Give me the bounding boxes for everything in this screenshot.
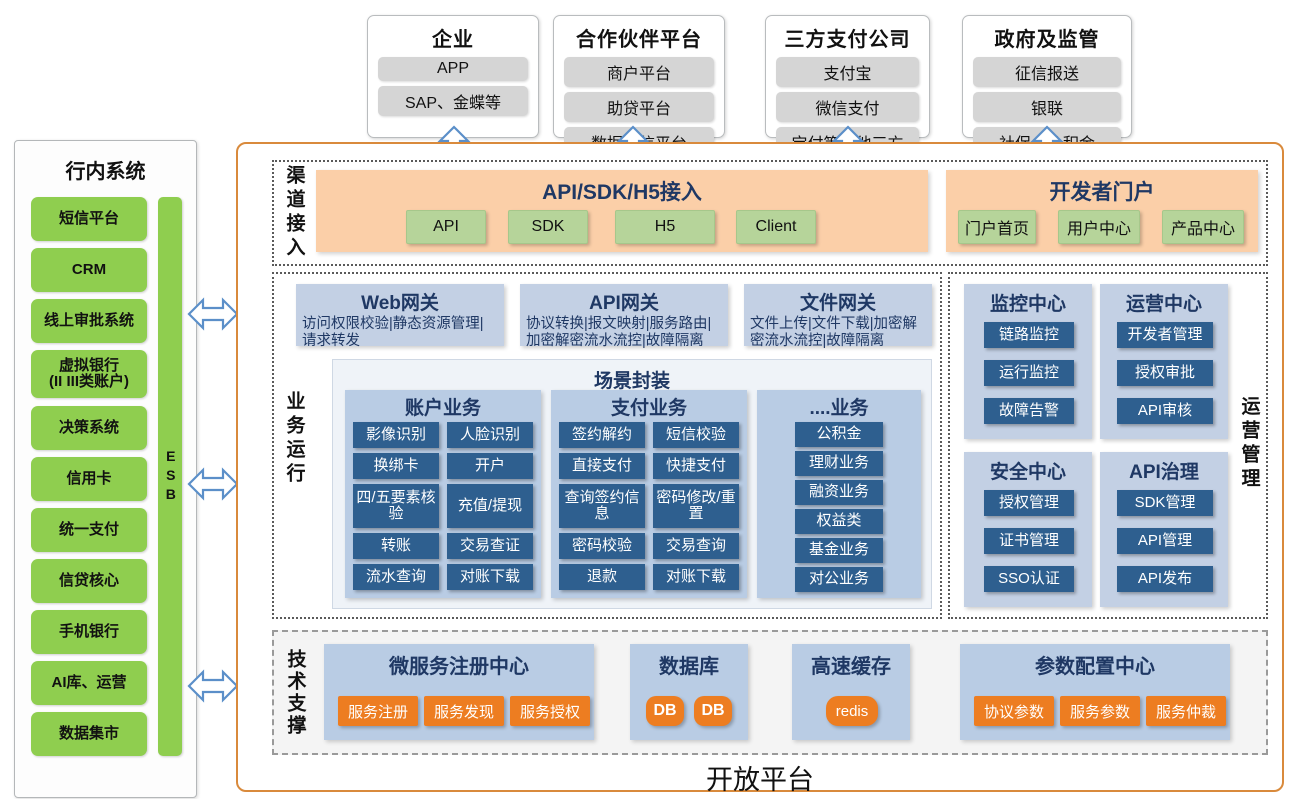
ops-chip-label: 运行监控 (999, 365, 1059, 381)
portal-chip-label: 用户中心 (1067, 215, 1131, 239)
tech-chip-redis[interactable]: redis (826, 696, 878, 726)
channel-access-section: 渠道接入 API/SDK/H5接入 API SDK H5 Client 开发者门… (272, 160, 1268, 266)
tech-card-high-speed-cache: 高速缓存 redis (792, 644, 910, 740)
tech-chip-db-1[interactable]: DB (646, 696, 684, 726)
tech-chip-label: 服务仲裁 (1156, 701, 1216, 722)
tech-chip-service-discovery[interactable]: 服务发现 (424, 696, 504, 726)
bank-system-item-credit-core[interactable]: 信贷核心 (31, 559, 147, 603)
bank-systems-title: 行内系统 (15, 155, 196, 184)
tech-chip-label: 协议参数 (984, 701, 1044, 722)
scene-chip-label: 直接支付 (572, 458, 632, 474)
ops-card-api-governance: API治理 SDK管理 API管理 API发布 (1100, 452, 1228, 607)
scene-chip-label: 影像识别 (366, 427, 426, 443)
channel-chip-label: H5 (655, 218, 675, 236)
external-card-item: 银联 (973, 92, 1121, 122)
bank-system-item-virtual-bank[interactable]: 虚拟银行 (II III类账户) (31, 350, 147, 398)
esb-platform-arrow-middle (188, 467, 238, 501)
scene-chip-transaction-query[interactable]: 交易查询 (653, 533, 739, 559)
scene-chip-label: 理财业务 (809, 455, 869, 471)
tech-chip-service-authorization[interactable]: 服务授权 (510, 696, 590, 726)
bank-system-item-online-approval[interactable]: 线上审批系统 (31, 299, 147, 343)
scene-encapsulation-title: 场景封装 (333, 366, 931, 393)
bank-system-label: 信用卡 (66, 471, 111, 487)
channel-chip-label: SDK (532, 218, 565, 236)
ops-chip-label: SDK管理 (1135, 495, 1196, 511)
tech-chip-label: 服务注册 (348, 701, 408, 722)
portal-chip-label: 门户首页 (965, 215, 1029, 239)
tech-card-microservice-registry: 微服务注册中心 服务注册 服务发现 服务授权 (324, 644, 594, 740)
scene-chip-financing[interactable]: 融资业务 (795, 480, 883, 505)
scene-chip-label: 转账 (381, 538, 411, 554)
tech-chip-label: 服务发现 (434, 701, 494, 722)
portal-chip-product-center[interactable]: 产品中心 (1162, 210, 1244, 244)
ops-chip-link-monitoring[interactable]: 链路监控 (984, 322, 1074, 348)
tech-chip-label: 服务参数 (1070, 701, 1130, 722)
external-card-item: 支付宝 (776, 57, 919, 87)
external-card-partner-platform: 合作伙伴平台 商户平台 助贷平台 数据征信平台 (553, 15, 725, 138)
scene-chip-label: 人脸识别 (460, 427, 520, 443)
ops-chip-label: 链路监控 (999, 327, 1059, 343)
operations-management-section: 运营管理 监控中心 链路监控 运行监控 故障告警 运营中心 开发者管理 授权审批… (948, 272, 1268, 619)
bank-system-label: 线上审批系统 (44, 313, 134, 329)
ops-chip-fault-alarm[interactable]: 故障告警 (984, 398, 1074, 424)
ops-card-title: API治理 (1100, 452, 1228, 484)
ops-chip-api-management[interactable]: API管理 (1117, 528, 1213, 554)
gateway-desc: 访问权限校验|静态资源管理|请求转发 (302, 316, 498, 349)
scene-chip-card-rebind[interactable]: 换绑卡 (353, 453, 439, 479)
scene-chip-label: 退款 (587, 569, 617, 585)
api-sdk-h5-access-title: API/SDK/H5接入 (316, 176, 928, 206)
scene-chip-label: 对账下载 (666, 569, 726, 585)
external-card-enterprise: 企业 APP SAP、金蝶等 (367, 15, 539, 138)
external-card-title: 企业 (432, 23, 474, 52)
external-card-government-regulator: 政府及监管 征信报送 银联 社保、公积金 (962, 15, 1132, 138)
operations-management-vertical-label: 运营管理 (1234, 379, 1264, 509)
scene-group-payment-business: 支付业务 签约解约 直接支付 查询签约信息 密码校验 退款 短信校验 快捷支付 … (551, 390, 747, 598)
business-running-section: 业务运行 Web网关 访问权限校验|静态资源管理|请求转发 API网关 协议转换… (272, 272, 942, 619)
tech-card-title: 参数配置中心 (960, 644, 1230, 679)
scene-chip-four-five-element-check[interactable]: 四/五要素核验 (353, 484, 439, 528)
tech-card-title: 数据库 (630, 644, 748, 679)
ops-chip-label: SSO认证 (998, 571, 1060, 587)
external-card-title: 合作伙伴平台 (576, 23, 702, 52)
gateway-title: 文件网关 (750, 288, 926, 315)
portal-chip-label: 产品中心 (1171, 215, 1235, 239)
bank-system-label: 信贷核心 (59, 573, 119, 589)
scene-chip-label: 查询签约信息 (559, 490, 645, 522)
scene-group-title: ....业务 (757, 390, 921, 420)
ops-chip-sdk-management[interactable]: SDK管理 (1117, 490, 1213, 516)
channel-access-vertical-label: 渠道接入 (278, 164, 310, 262)
tech-chip-label: DB (653, 702, 676, 720)
technical-support-vertical-label: 技术支撑 (280, 640, 310, 745)
tech-chip-db-2[interactable]: DB (694, 696, 732, 726)
scene-chip-label: 权益类 (816, 513, 861, 529)
ops-chip-label: 授权审批 (1135, 365, 1195, 381)
scene-chip-label: 对公业务 (809, 571, 869, 587)
scene-chip-password-check[interactable]: 密码校验 (559, 533, 645, 559)
developer-portal-card: 开发者门户 门户首页 用户中心 产品中心 (946, 170, 1258, 252)
external-card-title: 政府及监管 (995, 23, 1100, 52)
scene-chip-housing-fund[interactable]: 公积金 (795, 422, 883, 447)
bank-system-item-credit-card[interactable]: 信用卡 (31, 457, 147, 501)
bank-system-label: 短信平台 (59, 211, 119, 227)
scene-chip-label: 换绑卡 (373, 458, 418, 474)
esb-bar: ESB (158, 197, 182, 756)
gateway-desc: 协议转换|报文映射|服务路由|加密解密流水流控|故障隔离 (526, 316, 722, 349)
scene-chip-password-change-reset[interactable]: 密码修改/重置 (653, 484, 739, 528)
tech-card-parameter-configuration-center: 参数配置中心 协议参数 服务参数 服务仲裁 (960, 644, 1230, 740)
tech-chip-protocol-parameter[interactable]: 协议参数 (974, 696, 1054, 726)
scene-chip-direct-payment[interactable]: 直接支付 (559, 453, 645, 479)
esb-platform-arrow-bottom (188, 669, 238, 703)
scene-chip-image-recognition[interactable]: 影像识别 (353, 422, 439, 448)
scene-chip-reconciliation-download-2[interactable]: 对账下载 (653, 564, 739, 590)
bank-systems-panel: 行内系统 短信平台 CRM 线上审批系统 虚拟银行 (II III类账户) 决策… (14, 140, 197, 798)
ops-chip-authorization-approval[interactable]: 授权审批 (1117, 360, 1213, 386)
ops-chip-runtime-monitoring[interactable]: 运行监控 (984, 360, 1074, 386)
bank-system-label: 虚拟银行 (II III类账户) (49, 358, 129, 390)
scene-chip-wealth-management[interactable]: 理财业务 (795, 451, 883, 476)
gateway-card-api: API网关 协议转换|报文映射|服务路由|加密解密流水流控|故障隔离 (520, 284, 728, 346)
external-card-title: 三方支付公司 (785, 23, 911, 52)
bank-system-label: 数据集市 (59, 726, 119, 742)
scene-chip-label: 四/五要素核验 (353, 490, 439, 522)
scene-chip-query-sign-info[interactable]: 查询签约信息 (559, 484, 645, 528)
open-platform-caption: 开放平台 (236, 758, 1284, 797)
ops-chip-sso-authentication[interactable]: SSO认证 (984, 566, 1074, 592)
ops-chip-authorization-management[interactable]: 授权管理 (984, 490, 1074, 516)
bank-system-label: CRM (72, 262, 106, 278)
scene-chip-transaction-flow-query[interactable]: 流水查询 (353, 564, 439, 590)
scene-chip-sms-verification[interactable]: 短信校验 (653, 422, 739, 448)
scene-chip-label: 充值/提现 (458, 498, 522, 514)
ops-card-title: 运营中心 (1100, 284, 1228, 316)
scene-chip-fund-business[interactable]: 基金业务 (795, 538, 883, 563)
scene-chip-label: 密码校验 (572, 538, 632, 554)
external-card-item: SAP、金蝶等 (378, 86, 528, 116)
esb-label: ESB (161, 448, 179, 505)
scene-group-other-business: ....业务 公积金 理财业务 融资业务 权益类 基金业务 对公业务 (757, 390, 921, 598)
scene-chip-label: 流水查询 (366, 569, 426, 585)
tech-card-title: 微服务注册中心 (324, 644, 594, 679)
portal-chip-home[interactable]: 门户首页 (958, 210, 1036, 244)
scene-chip-label: 交易查询 (666, 538, 726, 554)
ops-chip-label: API审核 (1138, 403, 1192, 419)
tech-chip-service-parameter[interactable]: 服务参数 (1060, 696, 1140, 726)
gateway-title: Web网关 (302, 288, 498, 315)
scene-chip-label: 快捷支付 (666, 458, 726, 474)
ops-card-title: 监控中心 (964, 284, 1092, 316)
scene-chip-refund[interactable]: 退款 (559, 564, 645, 590)
channel-chip-h5[interactable]: H5 (615, 210, 715, 244)
business-running-vertical-label: 业务运行 (278, 366, 310, 511)
tech-chip-service-arbitration[interactable]: 服务仲裁 (1146, 696, 1226, 726)
scene-chip-reconciliation-download[interactable]: 对账下载 (447, 564, 533, 590)
scene-group-account-business: 账户业务 影像识别 换绑卡 四/五要素核验 转账 流水查询 人脸识别 开户 充值… (345, 390, 541, 598)
tech-chip-label: DB (701, 702, 724, 720)
bank-system-item-crm[interactable]: CRM (31, 248, 147, 292)
bank-system-item-sms[interactable]: 短信平台 (31, 197, 147, 241)
scene-chip-open-account[interactable]: 开户 (447, 453, 533, 479)
ops-chip-label: 开发者管理 (1127, 327, 1202, 343)
scene-chip-label: 交易查证 (460, 538, 520, 554)
esb-platform-arrow-top (188, 297, 238, 331)
scene-chip-label: 基金业务 (809, 542, 869, 558)
tech-chip-label: redis (836, 703, 869, 720)
scene-encapsulation-wrapper: 场景封装 账户业务 影像识别 换绑卡 四/五要素核验 转账 流水查询 人脸识别 … (332, 359, 932, 609)
ops-card-monitoring-center: 监控中心 链路监控 运行监控 故障告警 (964, 284, 1092, 439)
bank-system-item-decision[interactable]: 决策系统 (31, 406, 147, 450)
scene-chip-label: 公积金 (816, 426, 861, 442)
channel-chip-label: Client (756, 218, 797, 236)
bank-system-label: 决策系统 (59, 420, 119, 436)
external-card-item: 商户平台 (564, 57, 714, 87)
architecture-diagram: 企业 APP SAP、金蝶等 合作伙伴平台 商户平台 助贷平台 数据征信平台 三… (0, 0, 1299, 799)
scene-group-title: 账户业务 (345, 390, 541, 420)
external-card-item: APP (378, 57, 528, 81)
external-card-item: 征信报送 (973, 57, 1121, 87)
scene-chip-label: 密码修改/重置 (653, 490, 739, 522)
gateway-desc: 文件上传|文件下载|加密解密流水流控|故障隔离 (750, 316, 926, 349)
gateway-card-web: Web网关 访问权限校验|静态资源管理|请求转发 (296, 284, 504, 346)
ops-chip-label: 故障告警 (999, 403, 1059, 419)
api-sdk-h5-access-card: API/SDK/H5接入 API SDK H5 Client (316, 170, 928, 252)
bank-system-label: AI库、运营 (51, 675, 126, 691)
channel-chip-label: API (433, 218, 459, 236)
scene-group-title: 支付业务 (551, 390, 747, 420)
technical-support-section: 技术支撑 微服务注册中心 服务注册 服务发现 服务授权 数据库 DB DB 高速… (272, 630, 1268, 755)
external-card-item: 微信支付 (776, 92, 919, 122)
scene-chip-face-recognition[interactable]: 人脸识别 (447, 422, 533, 448)
ops-chip-api-audit[interactable]: API审核 (1117, 398, 1213, 424)
scene-chip-corporate-business[interactable]: 对公业务 (795, 567, 883, 592)
ops-card-security-center: 安全中心 授权管理 证书管理 SSO认证 (964, 452, 1092, 607)
scene-chip-label: 开户 (475, 458, 505, 474)
tech-chip-service-register[interactable]: 服务注册 (338, 696, 418, 726)
ops-chip-certificate-management[interactable]: 证书管理 (984, 528, 1074, 554)
ops-card-title: 安全中心 (964, 452, 1092, 484)
gateway-title: API网关 (526, 288, 722, 315)
ops-chip-api-publish[interactable]: API发布 (1117, 566, 1213, 592)
bank-system-item-unified-payment[interactable]: 统一支付 (31, 508, 147, 552)
ops-chip-label: API发布 (1138, 571, 1192, 587)
scene-chip-label: 对账下载 (460, 569, 520, 585)
tech-chip-label: 服务授权 (520, 701, 580, 722)
bank-system-item-mobile-bank[interactable]: 手机银行 (31, 610, 147, 654)
gateway-card-file: 文件网关 文件上传|文件下载|加密解密流水流控|故障隔离 (744, 284, 932, 346)
tech-card-database: 数据库 DB DB (630, 644, 748, 740)
scene-chip-rights-interest[interactable]: 权益类 (795, 509, 883, 534)
portal-chip-user-center[interactable]: 用户中心 (1058, 210, 1140, 244)
scene-chip-sign-unsign[interactable]: 签约解约 (559, 422, 645, 448)
ops-card-operations-center: 运营中心 开发者管理 授权审批 API审核 (1100, 284, 1228, 439)
ops-chip-label: 授权管理 (999, 495, 1059, 511)
scene-chip-recharge-withdraw[interactable]: 充值/提现 (447, 484, 533, 528)
bank-system-label: 手机银行 (59, 624, 119, 640)
channel-chip-client[interactable]: Client (736, 210, 816, 244)
scene-chip-transfer[interactable]: 转账 (353, 533, 439, 559)
developer-portal-title: 开发者门户 (946, 176, 1258, 206)
ops-chip-developer-management[interactable]: 开发者管理 (1117, 322, 1213, 348)
external-card-item: 助贷平台 (564, 92, 714, 122)
bank-system-item-ai-operations[interactable]: AI库、运营 (31, 661, 147, 705)
scene-chip-label: 短信校验 (666, 427, 726, 443)
bank-system-item-data-mart[interactable]: 数据集市 (31, 712, 147, 756)
bank-system-label: 统一支付 (59, 522, 119, 538)
channel-chip-api[interactable]: API (406, 210, 486, 244)
scene-chip-transaction-verification[interactable]: 交易查证 (447, 533, 533, 559)
ops-chip-label: 证书管理 (999, 533, 1059, 549)
channel-chip-sdk[interactable]: SDK (508, 210, 588, 244)
scene-chip-quick-payment[interactable]: 快捷支付 (653, 453, 739, 479)
scene-chip-label: 签约解约 (572, 427, 632, 443)
external-card-third-party-payment: 三方支付公司 支付宝 微信支付 宝付等其他三方 (765, 15, 930, 138)
scene-chip-label: 融资业务 (809, 484, 869, 500)
ops-chip-label: API管理 (1138, 533, 1192, 549)
tech-card-title: 高速缓存 (792, 644, 910, 679)
